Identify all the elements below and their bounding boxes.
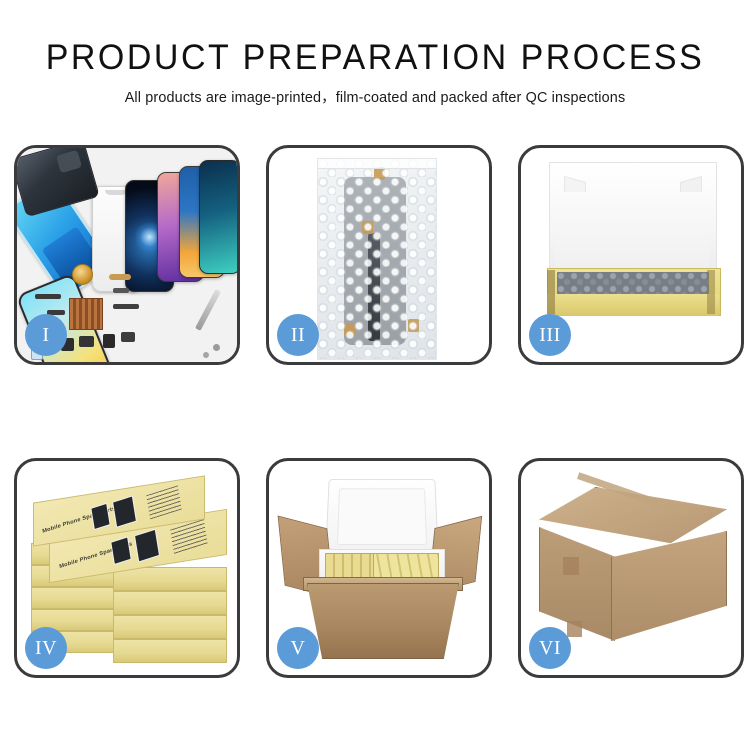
foam-box-lid-graphic (325, 479, 439, 555)
step-badge-2: II (277, 314, 319, 356)
sealed-carton-right-face-graphic (611, 531, 727, 641)
carton-tape-mark-b-graphic (567, 621, 582, 637)
phone-display-teal-graphic (199, 160, 240, 274)
stacked-box-r2-graphic (113, 567, 227, 591)
process-panel-grid: I II (0, 0, 750, 750)
flex-cable-a-graphic (35, 294, 61, 299)
step-badge-6: VI (529, 627, 571, 669)
box-swatch-rear-b (112, 495, 137, 528)
step-badge-3: III (529, 314, 571, 356)
screw-a-graphic (213, 344, 220, 351)
process-step-panel-5: V (266, 458, 492, 678)
small-component-i-graphic (121, 332, 135, 342)
flex-cable-c-graphic (113, 304, 139, 309)
flex-cable-k-graphic (113, 288, 129, 293)
box-swatch-front-b (134, 529, 160, 563)
mailer-box-front-panel-graphic (547, 294, 719, 316)
box-spec-text-rear (146, 485, 182, 519)
step-badge-5: V (277, 627, 319, 669)
wireless-charging-coil-graphic (72, 264, 93, 285)
bubble-texture-graphic (318, 159, 436, 359)
box-swatch-rear-a (90, 503, 110, 530)
small-component-f-graphic (79, 336, 94, 347)
process-step-panel-3: III (518, 145, 744, 365)
shipping-carton-body-graphic (307, 583, 459, 659)
box-spec-text-front (170, 519, 208, 555)
process-step-panel-4: Mobile Phone Spare Parts Mobile Phone Sp… (14, 458, 240, 678)
foam-lid-inner-graphic (337, 488, 427, 545)
process-step-panel-6: VI (518, 458, 744, 678)
box-edge-left-graphic (547, 270, 555, 314)
carton-tape-mark-a-graphic (563, 557, 579, 575)
stacked-box-r3-graphic (113, 591, 227, 615)
stacked-box-r4-graphic (113, 615, 227, 639)
bubble-wrap-bag-graphic (317, 158, 437, 360)
step-badge-1: I (25, 314, 67, 356)
box-edge-right-graphic (707, 270, 715, 314)
stacked-box-r5-graphic (113, 639, 227, 663)
step-badge-4: IV (25, 627, 67, 669)
copper-shield-grid-graphic (69, 298, 103, 330)
box-swatch-front-a (110, 536, 132, 565)
bag-seal-seam-graphic (318, 159, 436, 169)
process-step-panel-2: II (266, 145, 492, 365)
screw-b-graphic (203, 352, 209, 358)
small-component-g-graphic (103, 334, 115, 348)
white-foam-sheet-graphic (555, 192, 709, 270)
process-step-panel-1: I (14, 145, 240, 365)
flex-cable-b-graphic (109, 274, 131, 280)
